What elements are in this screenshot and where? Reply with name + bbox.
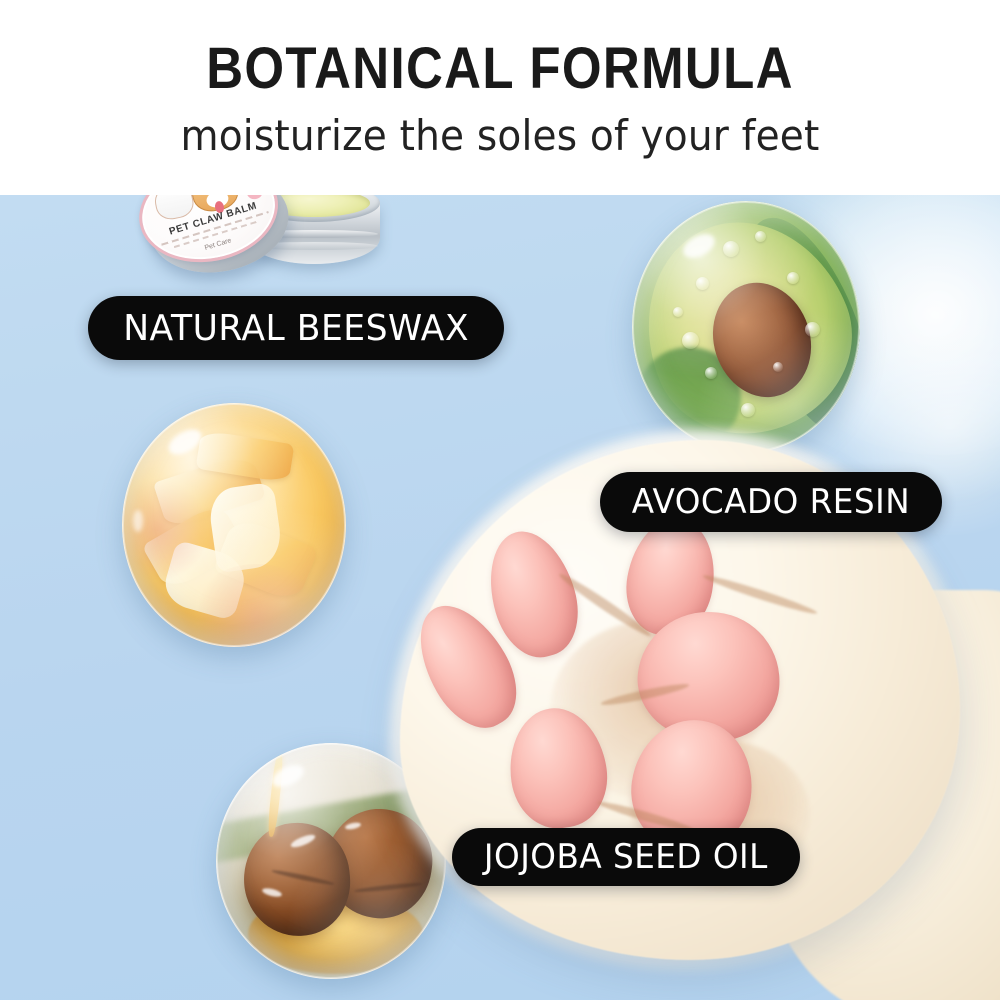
avocado-sphere	[632, 201, 860, 453]
ingredient-label-beeswax: NATURAL BEESWAX	[88, 296, 504, 360]
water-droplet	[741, 403, 755, 417]
ingredient-label-text: NATURAL BEESWAX	[123, 308, 469, 349]
water-droplet	[673, 307, 683, 317]
beeswax-sphere	[122, 403, 346, 647]
water-droplet	[696, 277, 709, 290]
header-band: BOTANICAL FORMULA moisturize the soles o…	[0, 0, 1000, 195]
page-title: BOTANICAL FORMULA	[60, 38, 940, 100]
ingredient-label-jojoba: JOJOBA SEED OIL	[452, 828, 800, 886]
beeswax-sphere-content	[122, 403, 346, 647]
product-infographic: BOTANICAL FORMULA moisturize the soles o…	[0, 0, 1000, 1000]
page-subtitle: moisturize the soles of your feet	[35, 112, 965, 160]
avocado-sphere-content	[632, 201, 860, 453]
ingredient-label-text: AVOCADO RESIN	[632, 482, 910, 522]
ingredient-label-text: JOJOBA SEED OIL	[484, 837, 768, 877]
ingredient-label-avocado: AVOCADO RESIN	[600, 472, 942, 532]
water-droplet	[787, 272, 799, 284]
